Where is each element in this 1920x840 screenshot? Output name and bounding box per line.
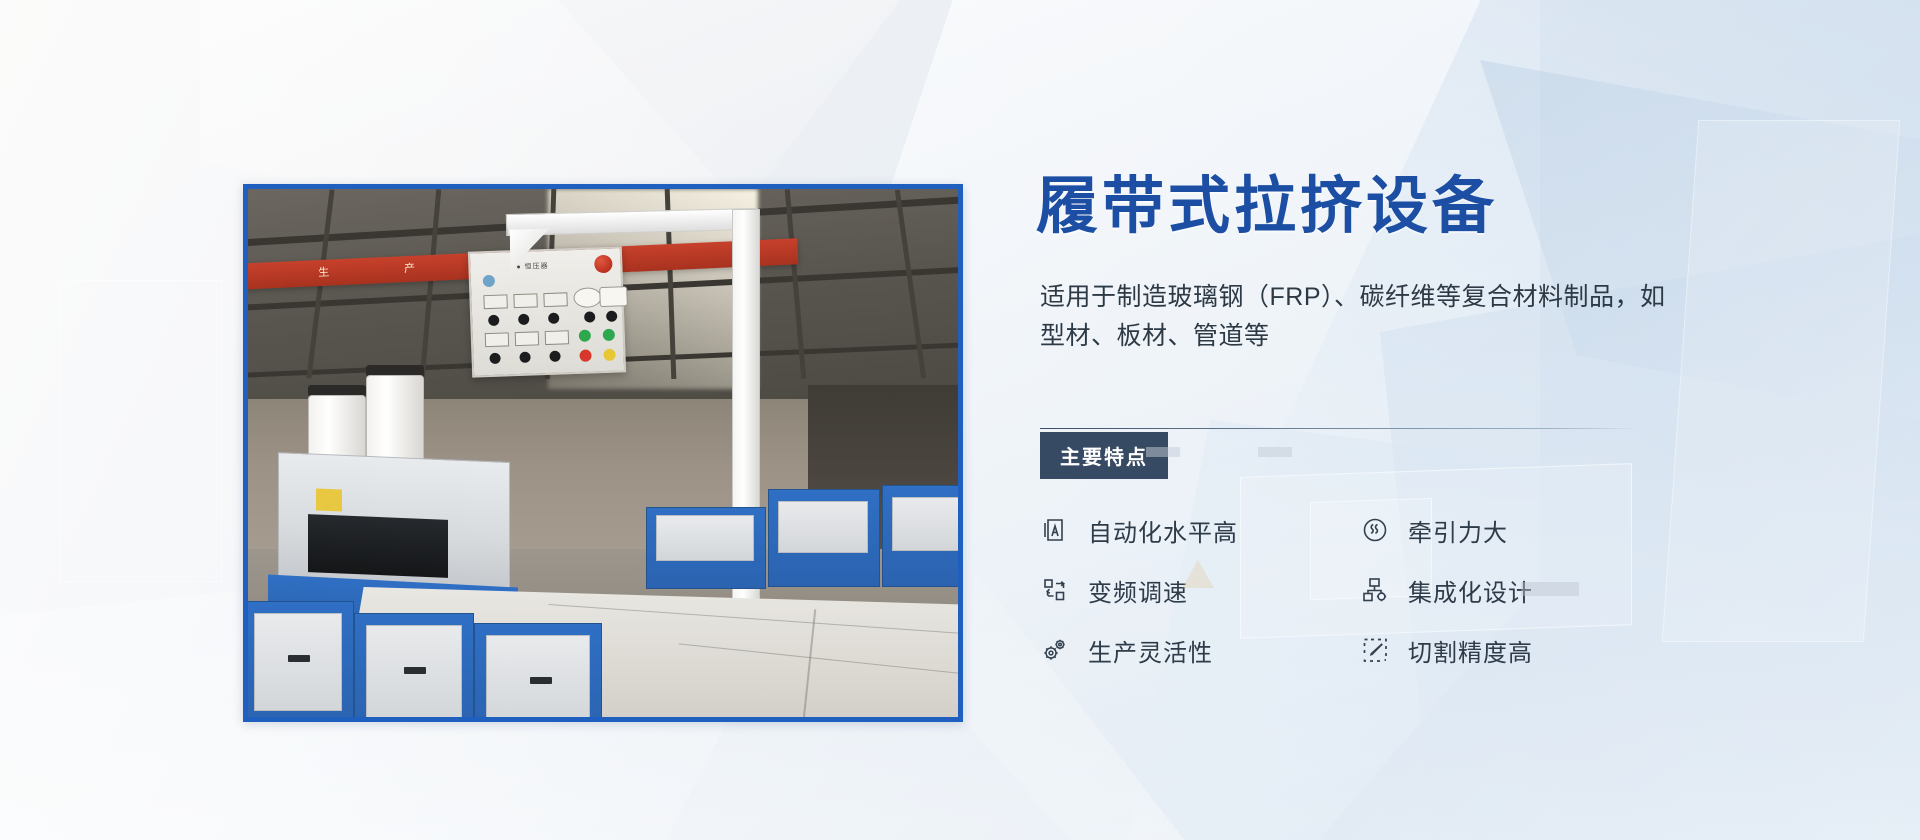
- photo-panel-knob: [489, 353, 500, 364]
- feature-item-flexibility: 生产灵活性: [1038, 620, 1358, 680]
- feature-label: 自动化水平高: [1088, 513, 1238, 548]
- photo-front-cabinet-panel: [254, 613, 342, 711]
- feature-label: 集成化设计: [1408, 573, 1533, 608]
- photo-panel-knob: [584, 311, 595, 322]
- feature-label: 生产灵活性: [1088, 633, 1213, 668]
- photo-panel-knob: [488, 315, 499, 326]
- feature-item-integrated: 集成化设计: [1358, 560, 1678, 620]
- watermark-box: [1521, 582, 1579, 596]
- photo-emergency-stop: [594, 255, 613, 274]
- photo-panel-lamp: [603, 329, 615, 341]
- ghost-panel-4: [60, 280, 222, 582]
- photo-warning-label: [316, 488, 342, 511]
- traction-force-icon: [1358, 513, 1392, 547]
- photo-panel-meter: [483, 294, 507, 309]
- photo-control-panel: ● 恒压器: [468, 246, 626, 377]
- photo-die-opening: [308, 514, 448, 578]
- photo-panel-meter: [485, 332, 509, 347]
- integrated-design-icon: [1358, 573, 1392, 607]
- photo-cabinet-vent: [404, 667, 426, 674]
- photo-panel-knob: [606, 311, 617, 322]
- photo-cabinet-panel: [892, 497, 958, 551]
- feature-item-traction: 牵引力大: [1358, 500, 1678, 560]
- page-subtitle: 适用于制造玻璃钢（FRP）、碳纤维等复合材料制品，如型材、板材、管道等: [1040, 278, 1680, 356]
- photo-panel-knob: [518, 314, 529, 325]
- photo-panel-gauge: [573, 287, 602, 308]
- product-photo-image: 生 产 车 间 ● 恒压器: [248, 189, 958, 717]
- watermark-triangle: [1182, 560, 1214, 588]
- product-photo: 生 产 车 间 ● 恒压器: [243, 184, 963, 722]
- photo-front-cabinet-panel: [486, 635, 590, 717]
- photo-panel-meter: [515, 331, 539, 346]
- automation-a-icon: [1038, 513, 1072, 547]
- photo-panel-meter: [513, 293, 537, 308]
- gears-flexibility-icon: [1038, 633, 1072, 667]
- frequency-speed-icon: [1038, 573, 1072, 607]
- feature-list: 自动化水平高 牵引力大: [1038, 500, 1738, 680]
- feature-item-automation: 自动化水平高: [1038, 500, 1358, 560]
- photo-panel-meter: [543, 292, 567, 307]
- photo-panel-lamp: [579, 329, 591, 341]
- photo-panel-lamp: [603, 349, 615, 361]
- watermark-box: [1146, 447, 1180, 457]
- photo-panel-knob: [519, 352, 530, 363]
- photo-panel-gauge: [599, 286, 628, 307]
- photo-panel-knob: [548, 313, 559, 324]
- photo-panel-meter: [545, 330, 569, 345]
- feature-label: 变频调速: [1088, 573, 1188, 608]
- feature-label: 切割精度高: [1408, 633, 1533, 668]
- cutting-precision-icon: [1358, 633, 1392, 667]
- feature-row: 变频调速 集成化设计: [1038, 560, 1738, 620]
- photo-cabinet-panel: [656, 515, 754, 561]
- photo-panel-lamp: [483, 275, 495, 287]
- photo-panel-title: ● 恒压器: [516, 261, 549, 272]
- page-title: 履带式拉挤设备: [1036, 176, 1498, 238]
- photo-cabinet-vent: [530, 677, 552, 684]
- product-banner: 生 产 车 间 ● 恒压器: [0, 0, 1920, 840]
- feature-row: 自动化水平高 牵引力大: [1038, 500, 1738, 560]
- feature-item-cutting: 切割精度高: [1358, 620, 1678, 680]
- photo-panel-lamp: [579, 349, 591, 361]
- section-divider: [1040, 428, 1640, 429]
- banner-content: 履带式拉挤设备 适用于制造玻璃钢（FRP）、碳纤维等复合材料制品，如型材、板材、…: [1036, 0, 1796, 840]
- feature-label: 牵引力大: [1408, 513, 1508, 548]
- watermark-box: [1258, 447, 1292, 457]
- photo-panel-knob: [549, 351, 560, 362]
- feature-row: 生产灵活性 切割精度高: [1038, 620, 1738, 680]
- photo-cabinet-vent: [288, 655, 310, 662]
